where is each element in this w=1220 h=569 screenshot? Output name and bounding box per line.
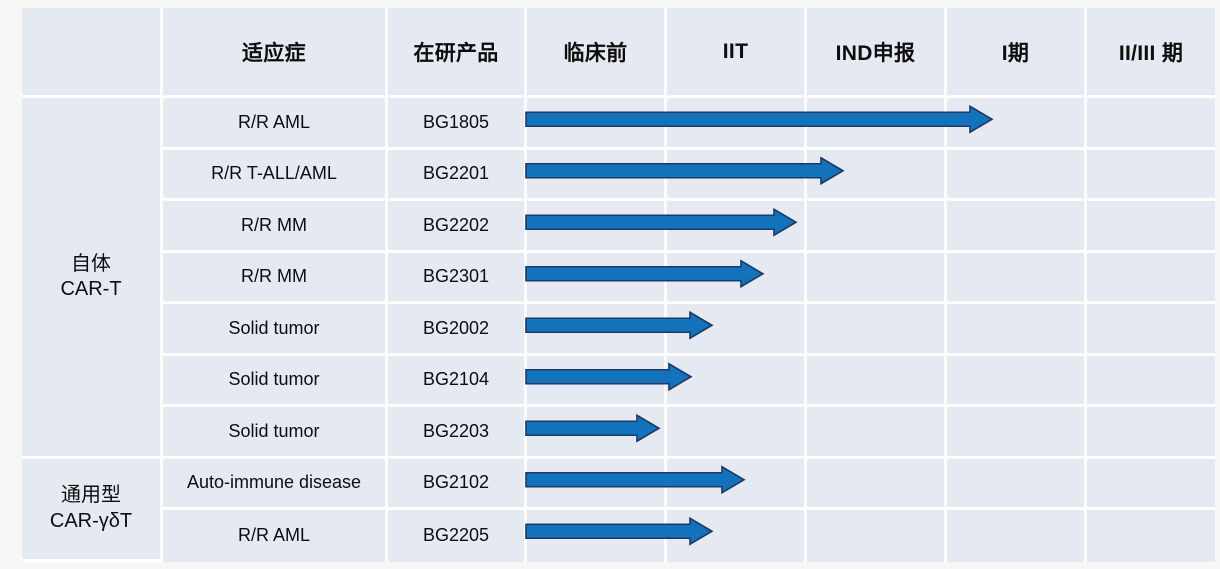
product-cell: BG2202 — [388, 201, 527, 253]
header-row: 适应症 在研产品 临床前 IIT IND申报 I期 II/III 期 — [22, 8, 1215, 98]
stage-cell-iit — [667, 253, 807, 305]
stage-cell-phase23 — [1087, 459, 1215, 511]
product-cell: BG1805 — [388, 98, 527, 150]
stage-cell-preclinical — [527, 253, 667, 305]
header-product: 在研产品 — [388, 8, 527, 98]
table-row: Solid tumor BG2203 — [22, 407, 1215, 459]
stage-cell-preclinical — [527, 510, 667, 562]
stage-cell-ind — [807, 98, 947, 150]
pipeline-table: 适应症 在研产品 临床前 IIT IND申报 I期 II/III 期 自体 CA… — [22, 8, 1215, 562]
stage-cell-ind — [807, 150, 947, 202]
header-stage-phase1: I期 — [947, 8, 1087, 98]
stage-cell-phase1 — [947, 304, 1087, 356]
table-row: 自体 CAR-T R/R AML BG1805 — [22, 98, 1215, 150]
product-cell: BG2301 — [388, 253, 527, 305]
stage-cell-iit — [667, 407, 807, 459]
stage-cell-preclinical — [527, 150, 667, 202]
stage-cell-preclinical — [527, 459, 667, 511]
stage-cell-preclinical — [527, 407, 667, 459]
stage-cell-phase1 — [947, 201, 1087, 253]
table-row: R/R MM BG2301 — [22, 253, 1215, 305]
indication-cell: R/R AML — [163, 510, 388, 562]
stage-cell-preclinical — [527, 201, 667, 253]
stage-cell-phase23 — [1087, 407, 1215, 459]
table-header: 适应症 在研产品 临床前 IIT IND申报 I期 II/III 期 — [22, 8, 1215, 98]
indication-cell: R/R MM — [163, 253, 388, 305]
product-cell: BG2205 — [388, 510, 527, 562]
stage-cell-phase23 — [1087, 510, 1215, 562]
product-cell: BG2104 — [388, 356, 527, 408]
indication-cell: Solid tumor — [163, 304, 388, 356]
indication-cell: Auto-immune disease — [163, 459, 388, 511]
product-cell: BG2002 — [388, 304, 527, 356]
indication-cell: R/R AML — [163, 98, 388, 150]
stage-cell-iit — [667, 201, 807, 253]
stage-cell-ind — [807, 201, 947, 253]
header-group — [22, 8, 163, 98]
product-cell: BG2201 — [388, 150, 527, 202]
product-cell: BG2102 — [388, 459, 527, 511]
table-body: 自体 CAR-T R/R AML BG1805 R/R T-ALL/AML BG… — [22, 98, 1215, 562]
stage-cell-phase1 — [947, 150, 1087, 202]
stage-cell-iit — [667, 150, 807, 202]
stage-cell-ind — [807, 356, 947, 408]
header-stage-preclinical: 临床前 — [527, 8, 667, 98]
stage-cell-phase1 — [947, 407, 1087, 459]
stage-cell-phase1 — [947, 98, 1087, 150]
indication-cell: R/R T-ALL/AML — [163, 150, 388, 202]
pipeline-chart: 适应症 在研产品 临床前 IIT IND申报 I期 II/III 期 自体 CA… — [0, 0, 1220, 569]
table-row: R/R MM BG2202 — [22, 201, 1215, 253]
stage-cell-ind — [807, 304, 947, 356]
stage-cell-preclinical — [527, 356, 667, 408]
stage-cell-phase23 — [1087, 356, 1215, 408]
header-stage-phase23: II/III 期 — [1087, 8, 1215, 98]
stage-cell-phase1 — [947, 253, 1087, 305]
stage-cell-ind — [807, 459, 947, 511]
table-row: 通用型 CAR-γδT Auto-immune disease BG2102 — [22, 459, 1215, 511]
stage-cell-ind — [807, 407, 947, 459]
indication-cell: Solid tumor — [163, 407, 388, 459]
header-stage-ind: IND申报 — [807, 8, 947, 98]
table-row: Solid tumor BG2104 — [22, 356, 1215, 408]
indication-cell: Solid tumor — [163, 356, 388, 408]
stage-cell-ind — [807, 510, 947, 562]
stage-cell-phase23 — [1087, 98, 1215, 150]
stage-cell-preclinical — [527, 98, 667, 150]
stage-cell-iit — [667, 98, 807, 150]
stage-cell-iit — [667, 356, 807, 408]
stage-cell-iit — [667, 304, 807, 356]
table-row: Solid tumor BG2002 — [22, 304, 1215, 356]
stage-cell-phase23 — [1087, 304, 1215, 356]
header-indication: 适应症 — [163, 8, 388, 98]
header-stage-iit: IIT — [667, 8, 807, 98]
group-cell-autologous: 自体 CAR-T — [22, 98, 163, 459]
table-row: R/R AML BG2205 — [22, 510, 1215, 562]
stage-cell-phase1 — [947, 356, 1087, 408]
group-cell-universal: 通用型 CAR-γδT — [22, 459, 163, 562]
stage-cell-phase23 — [1087, 150, 1215, 202]
product-cell: BG2203 — [388, 407, 527, 459]
stage-cell-iit — [667, 510, 807, 562]
stage-cell-phase23 — [1087, 201, 1215, 253]
indication-cell: R/R MM — [163, 201, 388, 253]
stage-cell-phase1 — [947, 510, 1087, 562]
stage-cell-iit — [667, 459, 807, 511]
stage-cell-phase1 — [947, 459, 1087, 511]
stage-cell-preclinical — [527, 304, 667, 356]
stage-cell-phase23 — [1087, 253, 1215, 305]
table-row: R/R T-ALL/AML BG2201 — [22, 150, 1215, 202]
stage-cell-ind — [807, 253, 947, 305]
